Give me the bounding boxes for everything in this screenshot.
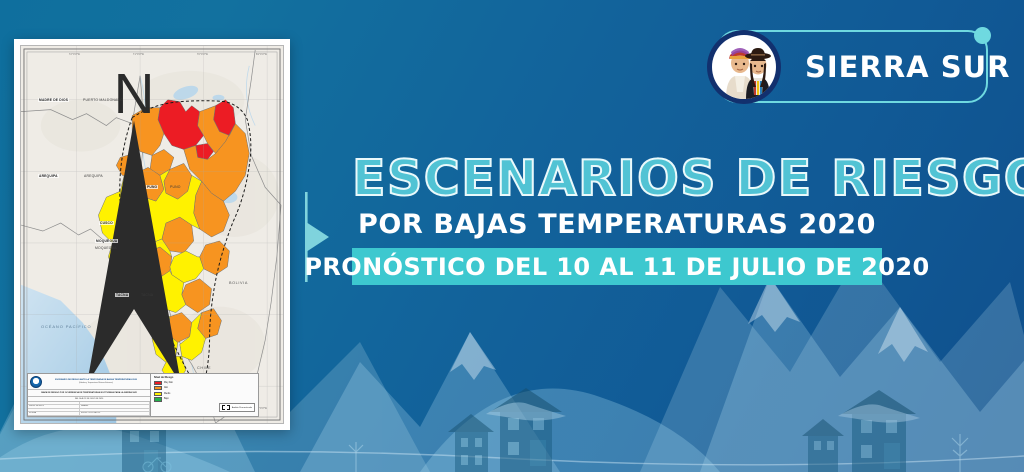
forecast-date-text: PRONÓSTICO DEL 10 AL 11 DE JULIO DE 2020 (304, 253, 929, 281)
legend-swatch-bajo (154, 397, 162, 401)
svg-text:N: N (114, 64, 155, 125)
legend-label-ambito: Ámbito Pronosticado (232, 407, 252, 409)
map-heading-line2: (Heladas y Temperaturas Mínimas Extremas… (44, 382, 148, 384)
legend-item-muy-alto: Muy Alto (154, 381, 255, 385)
legend-label-muy-alto: Muy Alto (164, 382, 173, 384)
map-titleblock-fields: ELABORADO CENEPRED FUENTE DE DATOS SENAM… (28, 402, 150, 416)
andean-woman-figure (745, 48, 771, 99)
brand-label: SIERRA SUR (805, 50, 1010, 84)
legend-label-bajo: Bajo (164, 398, 169, 400)
north-arrow-icon: N (20, 64, 265, 424)
map-titleblock-info: ESCENARIO DE RIESGO ANTE LA TEMPORADA DE… (28, 374, 151, 416)
sierra-sur-risk-banner: N MADRE DE DIOS PUERTO MALDONADO PUNO PU… (0, 0, 1024, 472)
map-titleblock-header: ESCENARIO DE RIESGO ANTE LA TEMPORADA DE… (28, 374, 150, 390)
institution-seal-icon (30, 376, 42, 388)
legend-item-medio: Medio (154, 392, 255, 396)
legend-item-alto: Alto (154, 386, 255, 390)
legend-label-alto: Alto (164, 387, 168, 389)
legend-item-bajo: Bajo (154, 397, 255, 401)
risk-map-card[interactable]: N MADRE DE DIOS PUERTO MALDONADO PUNO PU… (14, 39, 290, 430)
brand-badge[interactable]: SIERRA SUR (717, 30, 988, 103)
map-legend: Nivel de Riesgo Muy Alto Alto Medio (151, 374, 258, 416)
legend-swatch-alto (154, 386, 162, 390)
risk-map[interactable]: N MADRE DE DIOS PUERTO MALDONADO PUNO PU… (20, 45, 284, 424)
brand-medallion (707, 30, 781, 104)
andean-couple-icon (712, 35, 776, 99)
badge-corner-dot (974, 27, 991, 44)
legend-label-medio: Medio (164, 393, 170, 395)
field-value-3: WGS 84 / UTM ZONA 19 S (80, 412, 150, 416)
headline-block: ESCENARIOS DE RIESGO POR BAJAS TEMPERATU… (352, 152, 882, 285)
forecast-date-band: PRONÓSTICO DEL 10 AL 11 DE JULIO DE 2020 (352, 248, 882, 285)
map-titleblock-heading: ESCENARIO DE RIESGO ANTE LA TEMPORADA DE… (44, 379, 148, 384)
field-label-3: SISTEMA (28, 412, 80, 416)
page-subtitle: POR BAJAS TEMPERATURAS 2020 (352, 209, 882, 241)
legend-swatch-medio (154, 392, 162, 396)
legend-swatch-muy-alto (154, 381, 162, 385)
dashed-box-icon (222, 405, 230, 410)
map-titleblock-subtitle: MAPA DE RIESGO POR OCURRENCIA DE TEMPERA… (28, 390, 150, 397)
legend-item-ambito: Ámbito Pronosticado (219, 403, 255, 412)
legend-title: Nivel de Riesgo (154, 376, 255, 379)
page-title: ESCENARIOS DE RIESGO (352, 152, 882, 206)
map-titleblock: ESCENARIO DE RIESGO ANTE LA TEMPORADA DE… (27, 373, 259, 417)
